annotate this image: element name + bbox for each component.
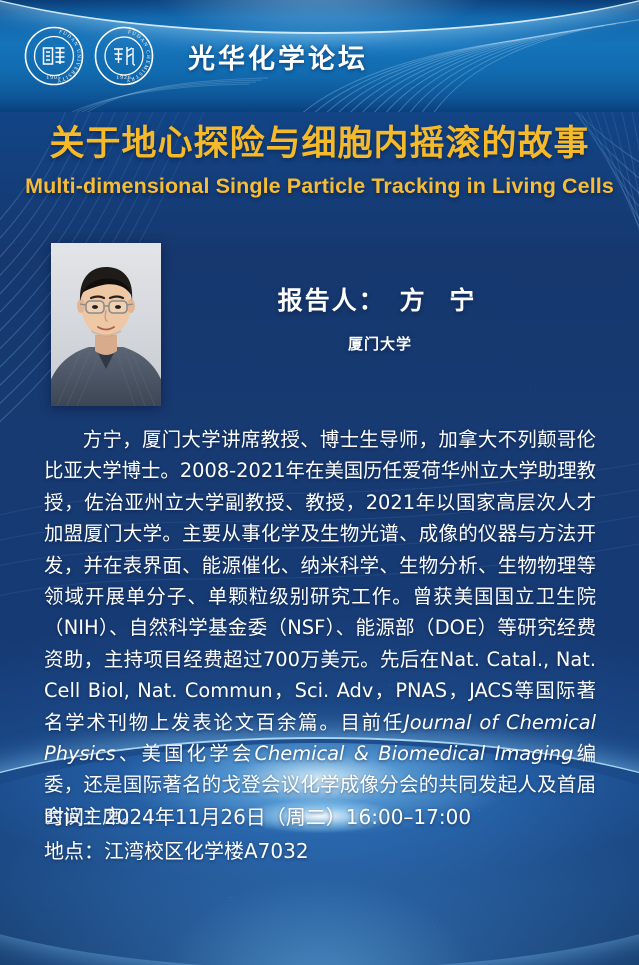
fudan-university-seal-icon: FUDAN UNIVERSITY 1905 (24, 26, 84, 86)
event-time: 时间：2024年11月26日（周二）16:00–17:00 (44, 800, 604, 834)
fudan-chemistry-seal-icon: FUDAN CHEMISTRY 1926 (94, 26, 154, 86)
seminar-poster: FUDAN UNIVERSITY 1905 FUDAN CHEMISTRY 19… (0, 0, 639, 965)
speaker-biography: 方宁，厦门大学讲席教授、博士生导师，加拿大不列颠哥伦比亚大学博士。2008-20… (44, 424, 596, 832)
event-location: 地点：江湾校区化学楼A7032 (44, 834, 604, 868)
svg-text:1926: 1926 (116, 75, 131, 81)
svg-text:1905: 1905 (46, 75, 61, 81)
speaker-portrait (51, 243, 161, 406)
forum-title: 光华化学论坛 (188, 37, 368, 76)
speaker-block: 报告人：方 宁 厦门大学 (0, 243, 639, 406)
title-block: 关于地心探险与细胞内摇滚的故事 Multi-dimensional Single… (0, 124, 639, 199)
speaker-name: 方 宁 (400, 286, 483, 315)
talk-title-chinese: 关于地心探险与细胞内摇滚的故事 (0, 124, 639, 165)
talk-title-english: Multi-dimensional Single Particle Tracki… (0, 174, 639, 199)
header-content: FUDAN UNIVERSITY 1905 FUDAN CHEMISTRY 19… (0, 0, 639, 112)
speaker-label: 报告人： (278, 286, 386, 315)
event-details: 时间：2024年11月26日（周二）16:00–17:00 地点：江湾校区化学楼… (44, 800, 604, 868)
speaker-info: 报告人：方 宁 厦门大学 (161, 243, 639, 354)
biography-paragraph: 方宁，厦门大学讲席教授、博士生导师，加拿大不列颠哥伦比亚大学博士。2008-20… (44, 424, 596, 832)
speaker-line: 报告人：方 宁 (161, 281, 599, 317)
speaker-affiliation: 厦门大学 (161, 333, 599, 354)
